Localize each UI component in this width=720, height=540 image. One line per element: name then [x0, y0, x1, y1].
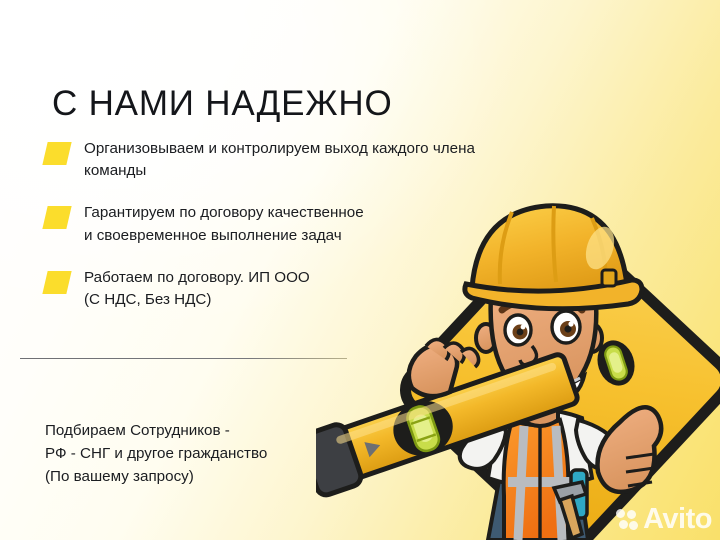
yellow-parallelogram-bullet-icon [42, 142, 71, 165]
safety-vest [504, 418, 574, 540]
benefits-list: Организовываем и контролируем выход кажд… [45, 138, 590, 311]
list-item-label: Организовываем и контролируем выход кажд… [84, 138, 590, 182]
yellow-parallelogram-bullet-icon [42, 206, 71, 229]
section-divider [20, 358, 347, 359]
list-item: Организовываем и контролируем выход кажд… [45, 138, 590, 182]
ad-banner: С НАМИ НАДЕЖНО Организовываем и контроли… [0, 0, 720, 540]
yellow-parallelogram-bullet-icon [42, 271, 71, 294]
list-item: Гарантируем по договору качественное и с… [45, 202, 590, 246]
list-item: Работаем по договору. ИП ООО (С НДС, Без… [45, 267, 590, 311]
list-item-label: Работаем по договору. ИП ООО (С НДС, Без… [84, 267, 590, 311]
page-title: С НАМИ НАДЕЖНО [52, 85, 393, 124]
list-item-label: Гарантируем по договору качественное и с… [84, 202, 590, 246]
footer-note: Подбираем Сотрудников - РФ - СНГ и друго… [45, 419, 267, 488]
